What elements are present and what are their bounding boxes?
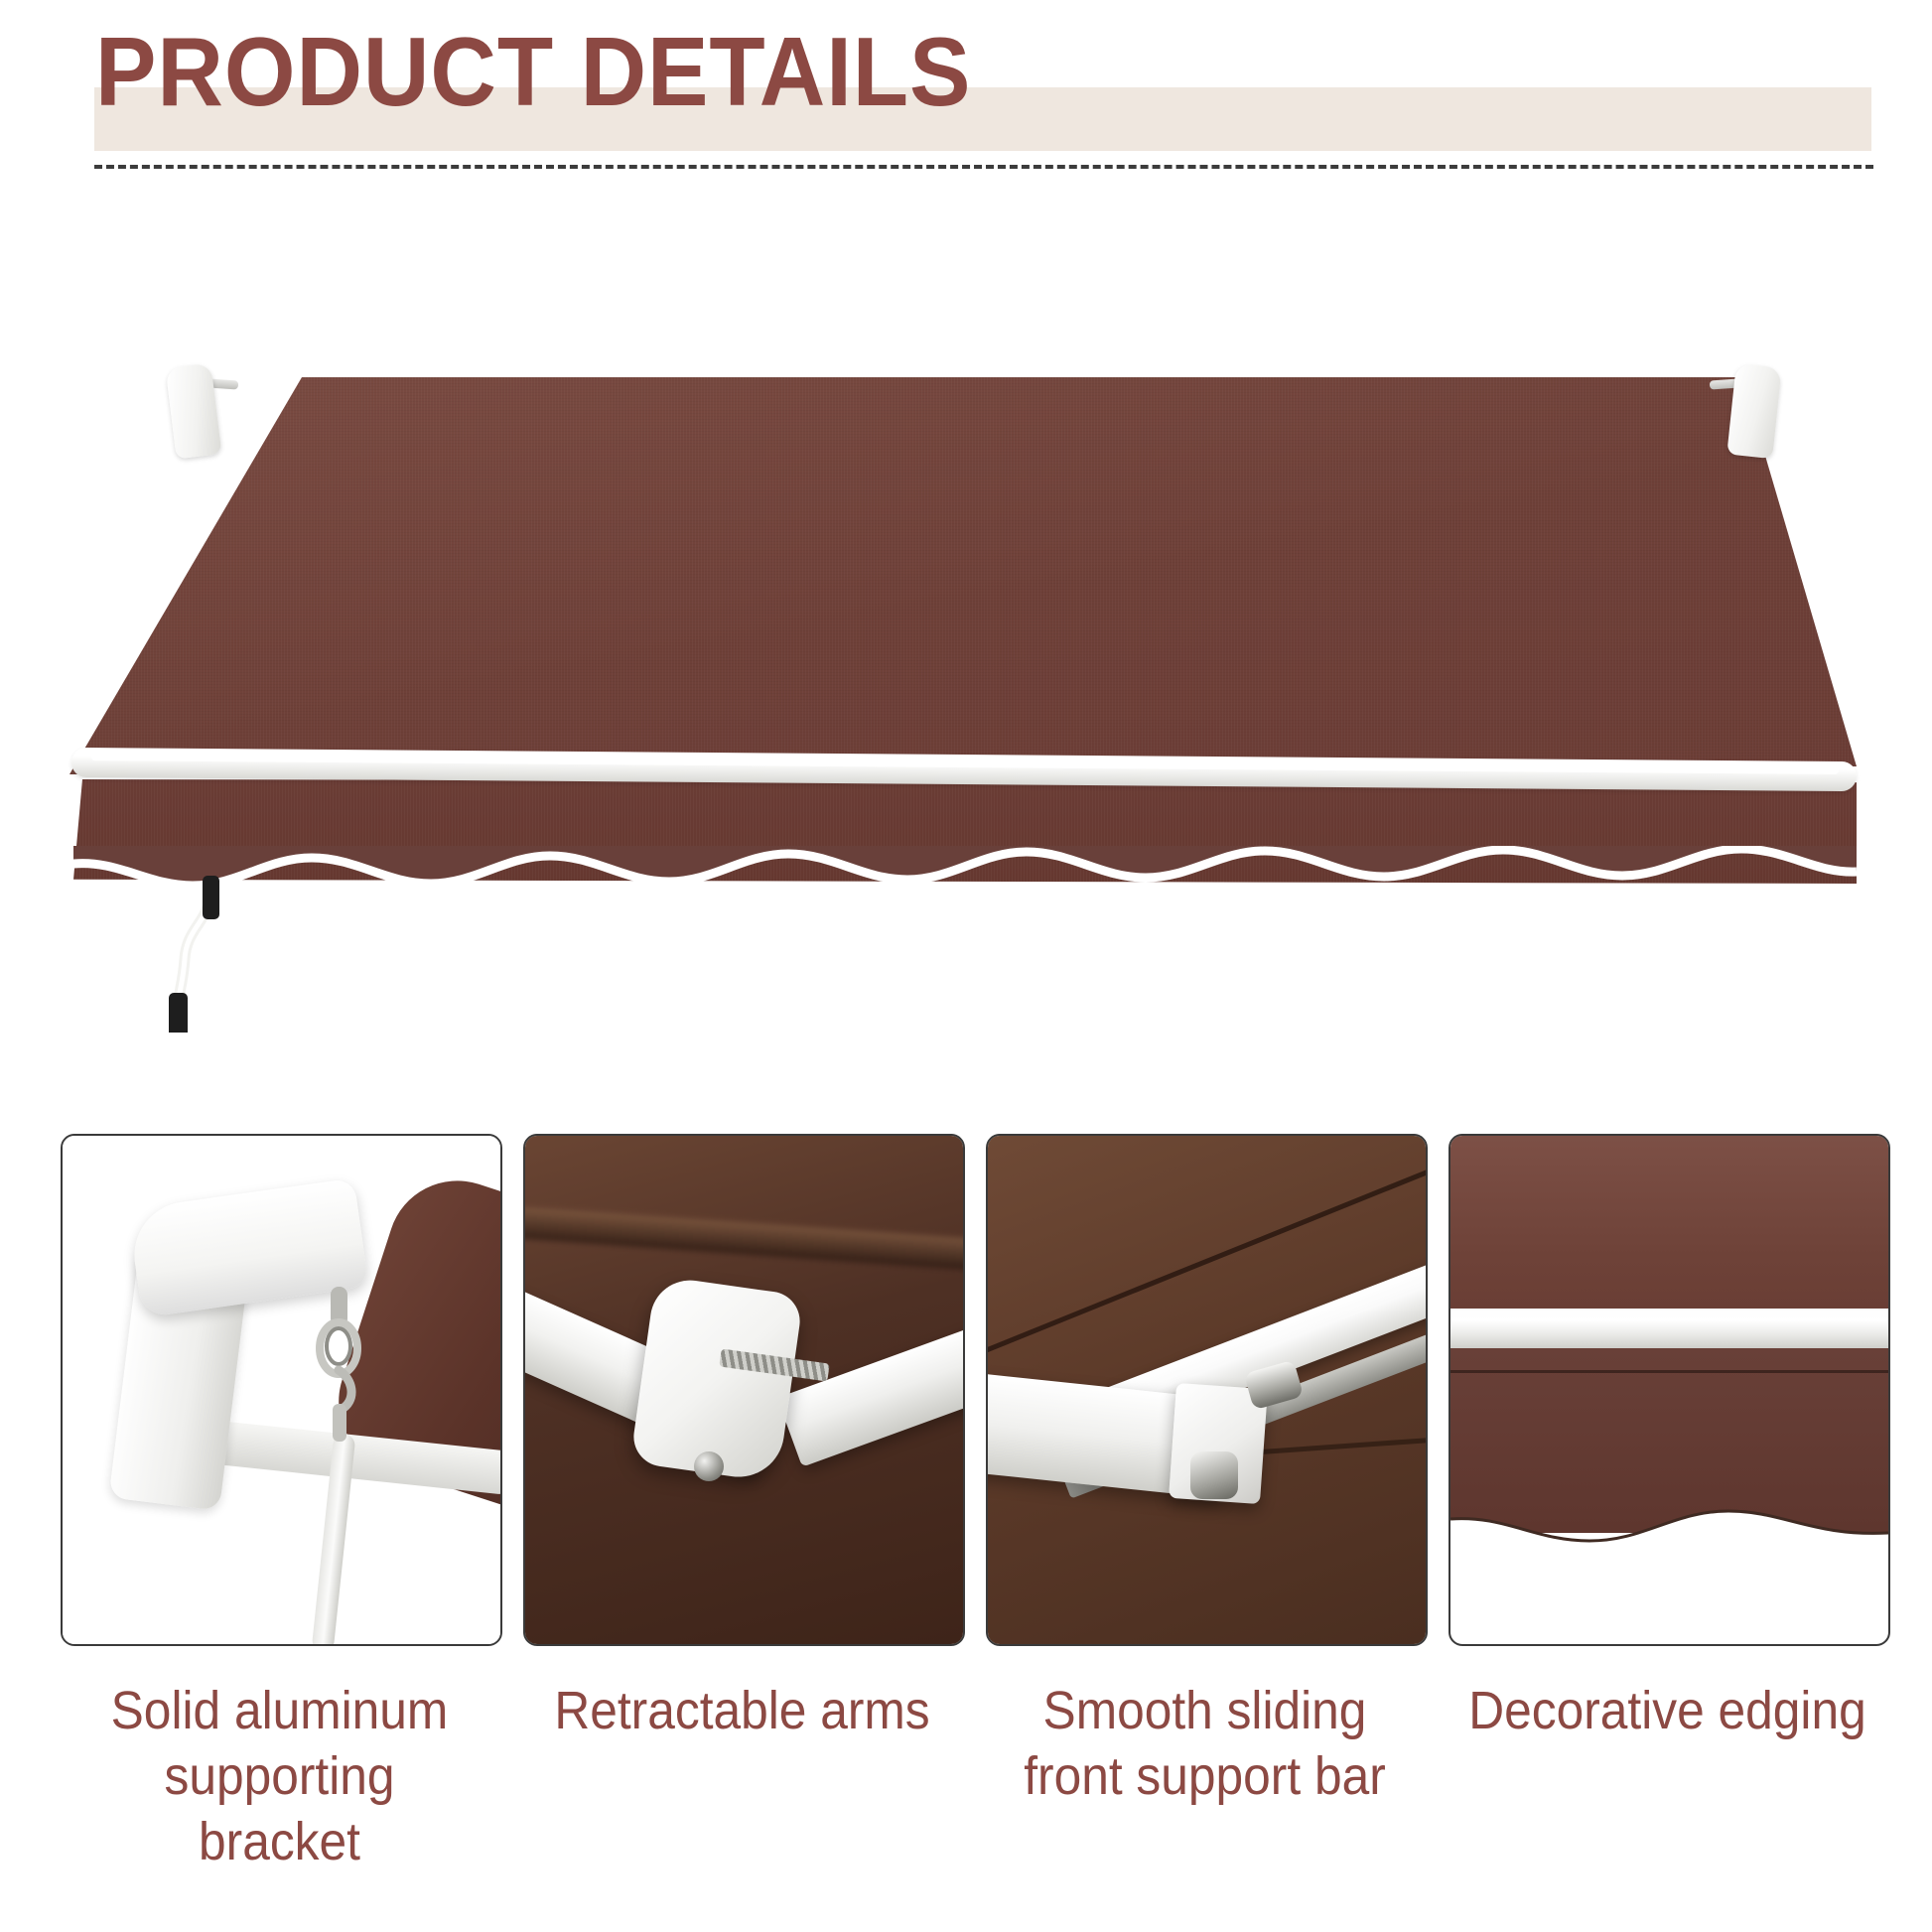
header-dashed-divider — [94, 165, 1873, 169]
page-header: PRODUCT DETAILS — [0, 0, 1932, 199]
detail-caption-edging: Decorative edging — [1466, 1678, 1869, 1743]
awning-illustration — [0, 199, 1932, 1092]
detail-caption-front-bar: Smooth sliding front support bar — [1004, 1678, 1407, 1809]
detail-thumbnail-front-bar[interactable] — [986, 1134, 1428, 1646]
detail-caption-bracket: Solid aluminum supporting bracket — [78, 1678, 482, 1874]
detail-caption-arms: Retractable arms — [541, 1678, 944, 1743]
detail-thumbnail-grid — [0, 1122, 1932, 1678]
scalloped-edging-icon — [73, 846, 1857, 892]
hero-product-image — [0, 199, 1932, 1092]
wall-mount-bracket-right-icon — [1726, 363, 1781, 459]
detail-captions: Solid aluminum supporting bracket Retrac… — [0, 1678, 1932, 1876]
wall-mount-bracket-left-icon — [166, 363, 222, 460]
edging-scallop-icon — [1450, 1485, 1888, 1545]
decorative-edging-photo-icon — [1450, 1136, 1888, 1644]
detail-thumbnail-arms[interactable] — [523, 1134, 965, 1646]
crank-handle-icon — [149, 874, 278, 1033]
page-title: PRODUCT DETAILS — [95, 20, 1495, 123]
canopy-fabric-texture — [69, 377, 1857, 774]
sliding-front-bar-photo-icon — [988, 1136, 1426, 1644]
retractable-arm-elbow-photo-icon — [525, 1136, 963, 1644]
awning-canopy — [69, 377, 1857, 774]
chrome-hook-icon — [311, 1285, 368, 1444]
detail-thumbnail-edging[interactable] — [1449, 1134, 1890, 1646]
aluminum-bracket-photo-icon — [63, 1136, 500, 1644]
detail-thumbnail-bracket[interactable] — [61, 1134, 502, 1646]
